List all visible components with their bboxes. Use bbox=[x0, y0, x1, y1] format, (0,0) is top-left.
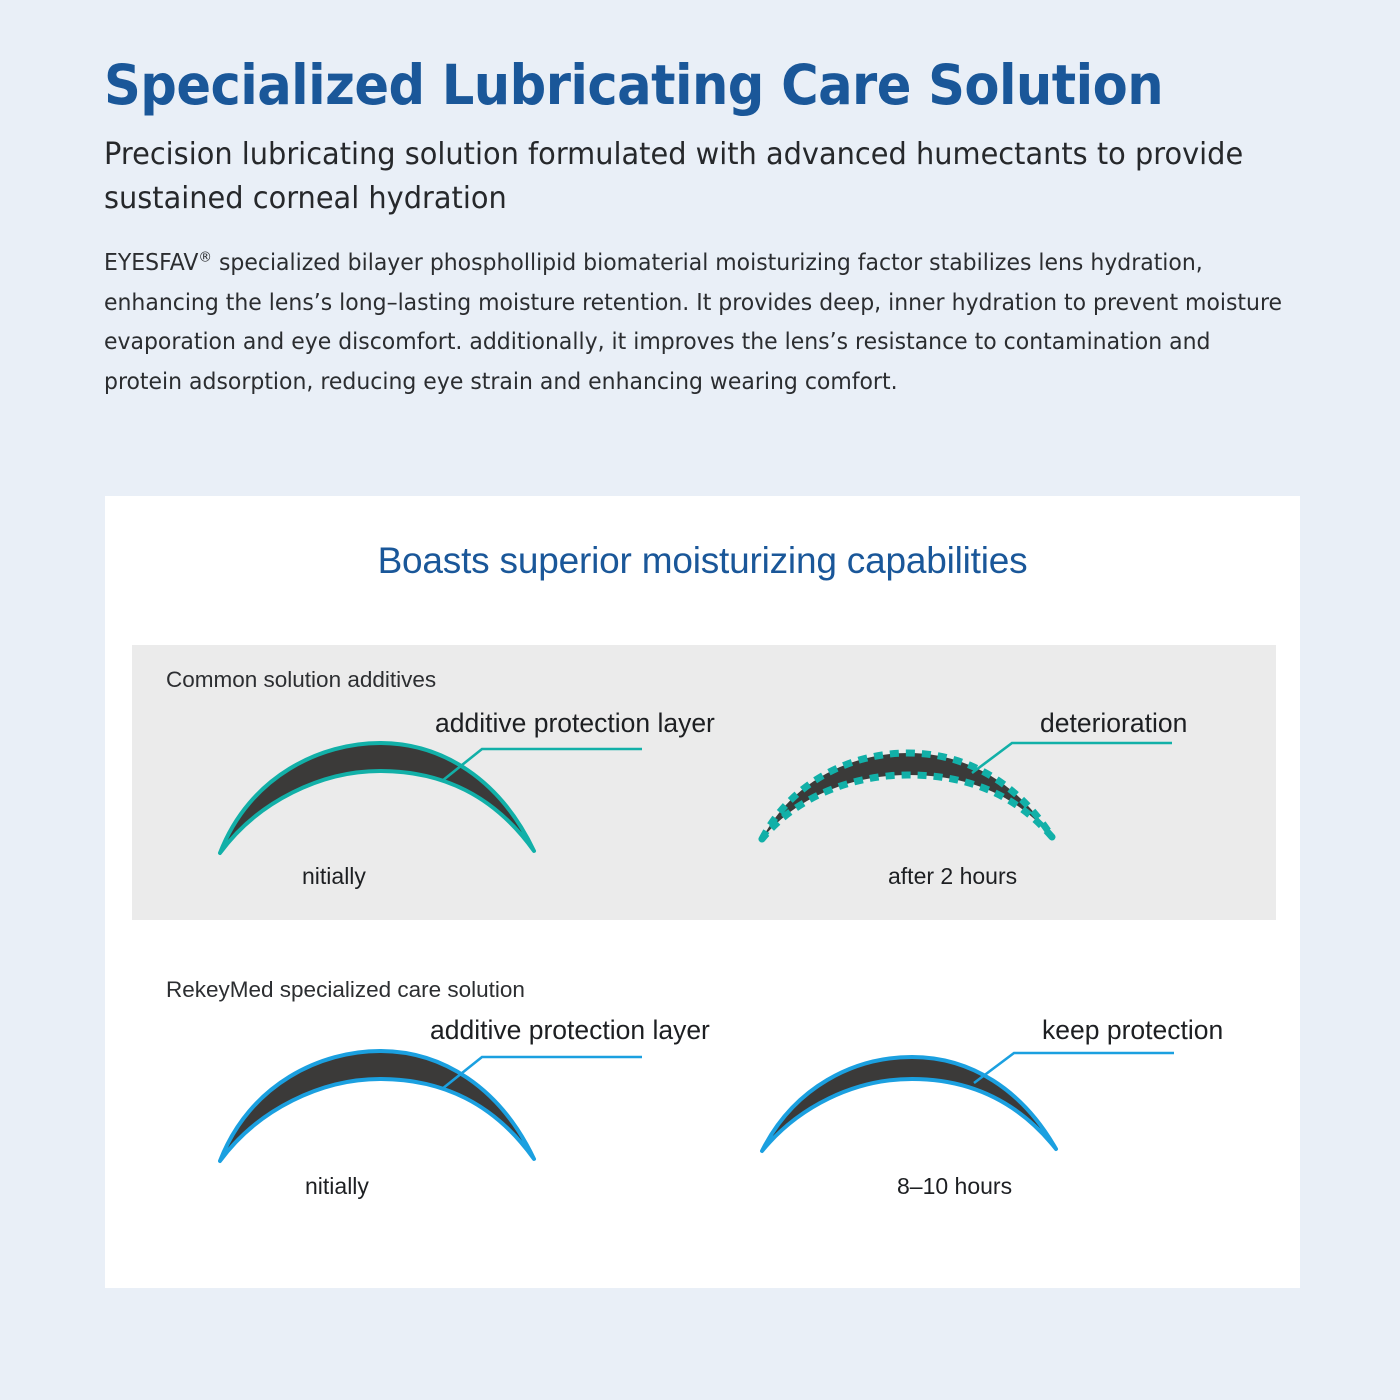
panel-rekeymed-care-solution: RekeyMed specialized care solution addit… bbox=[132, 955, 1276, 1255]
page-subtitle: Precision lubricating solution formulate… bbox=[104, 133, 1276, 220]
callout-label: keep protection bbox=[1042, 1015, 1223, 1046]
product-info-page: Specialized Lubricating Care Solution Pr… bbox=[0, 0, 1400, 1400]
callout-label: deterioration bbox=[1040, 708, 1187, 739]
comparison-card: Boasts superior moisturizing capabilitie… bbox=[105, 496, 1300, 1288]
header: Specialized Lubricating Care Solution Pr… bbox=[104, 56, 1344, 402]
card-heading: Boasts superior moisturizing capabilitie… bbox=[105, 540, 1300, 582]
lens-cell-rekeymed-initial: additive protection layer nitially bbox=[142, 955, 702, 1255]
registered-trademark-icon: ® bbox=[198, 249, 212, 265]
body-text: specialized bilayer phosphollipid biomat… bbox=[104, 250, 1282, 395]
lens-caption: 8–10 hours bbox=[897, 1173, 1012, 1200]
lens-body bbox=[220, 1051, 534, 1161]
lens-caption: nitially bbox=[302, 863, 366, 890]
page-body-paragraph: EYESFAV® specialized bilayer phosphollip… bbox=[104, 244, 1288, 402]
lens-body bbox=[762, 1057, 1056, 1151]
page-title: Specialized Lubricating Care Solution bbox=[104, 56, 1257, 115]
brand-name: EYESFAV bbox=[104, 250, 198, 276]
lens-cell-common-initial: additive protection layer nitially bbox=[142, 645, 702, 920]
lens-body-deteriorated bbox=[762, 753, 1052, 839]
panel-common-solution-additives: Common solution additives additive prote… bbox=[132, 645, 1276, 920]
lens-cell-rekeymed-8-10-hours: keep protection 8–10 hours bbox=[722, 955, 1276, 1255]
callout-leader-line bbox=[974, 1053, 1174, 1083]
callout-leader-line bbox=[972, 743, 1172, 773]
lens-caption: after 2 hours bbox=[888, 863, 1017, 890]
lens-diagram-common-deteriorated bbox=[722, 703, 1276, 863]
lens-body bbox=[220, 743, 534, 853]
lens-cell-common-after-2-hours: deterioration after 2 hours bbox=[722, 645, 1276, 920]
callout-label: additive protection layer bbox=[430, 1015, 710, 1046]
callout-label: additive protection layer bbox=[435, 708, 715, 739]
lens-caption: nitially bbox=[305, 1173, 369, 1200]
